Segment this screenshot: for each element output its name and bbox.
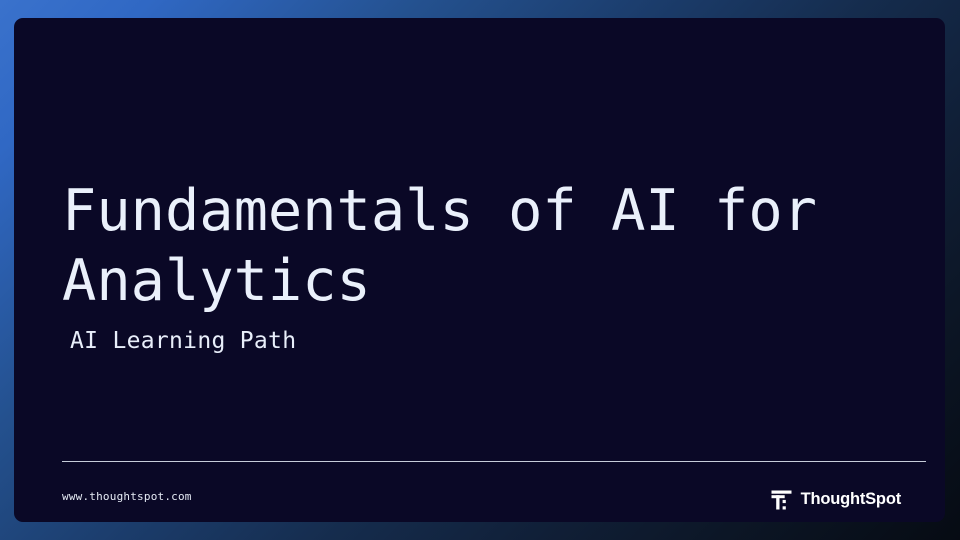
- page-title: Fundamentals of AI for Analytics: [62, 176, 922, 316]
- presentation-slide: Fundamentals of AI for Analytics AI Lear…: [0, 0, 960, 540]
- brand-lockup: ThoughtSpot: [771, 488, 901, 510]
- title-block: Fundamentals of AI for Analytics: [62, 176, 922, 316]
- slide-content-card: Fundamentals of AI for Analytics AI Lear…: [14, 18, 945, 522]
- slide-subtitle: AI Learning Path: [70, 326, 296, 356]
- footer-divider: [62, 461, 926, 462]
- brand-wordmark: ThoughtSpot: [801, 489, 901, 510]
- thoughtspot-logo-icon: [771, 489, 792, 510]
- footer-website-url: www.thoughtspot.com: [62, 489, 192, 504]
